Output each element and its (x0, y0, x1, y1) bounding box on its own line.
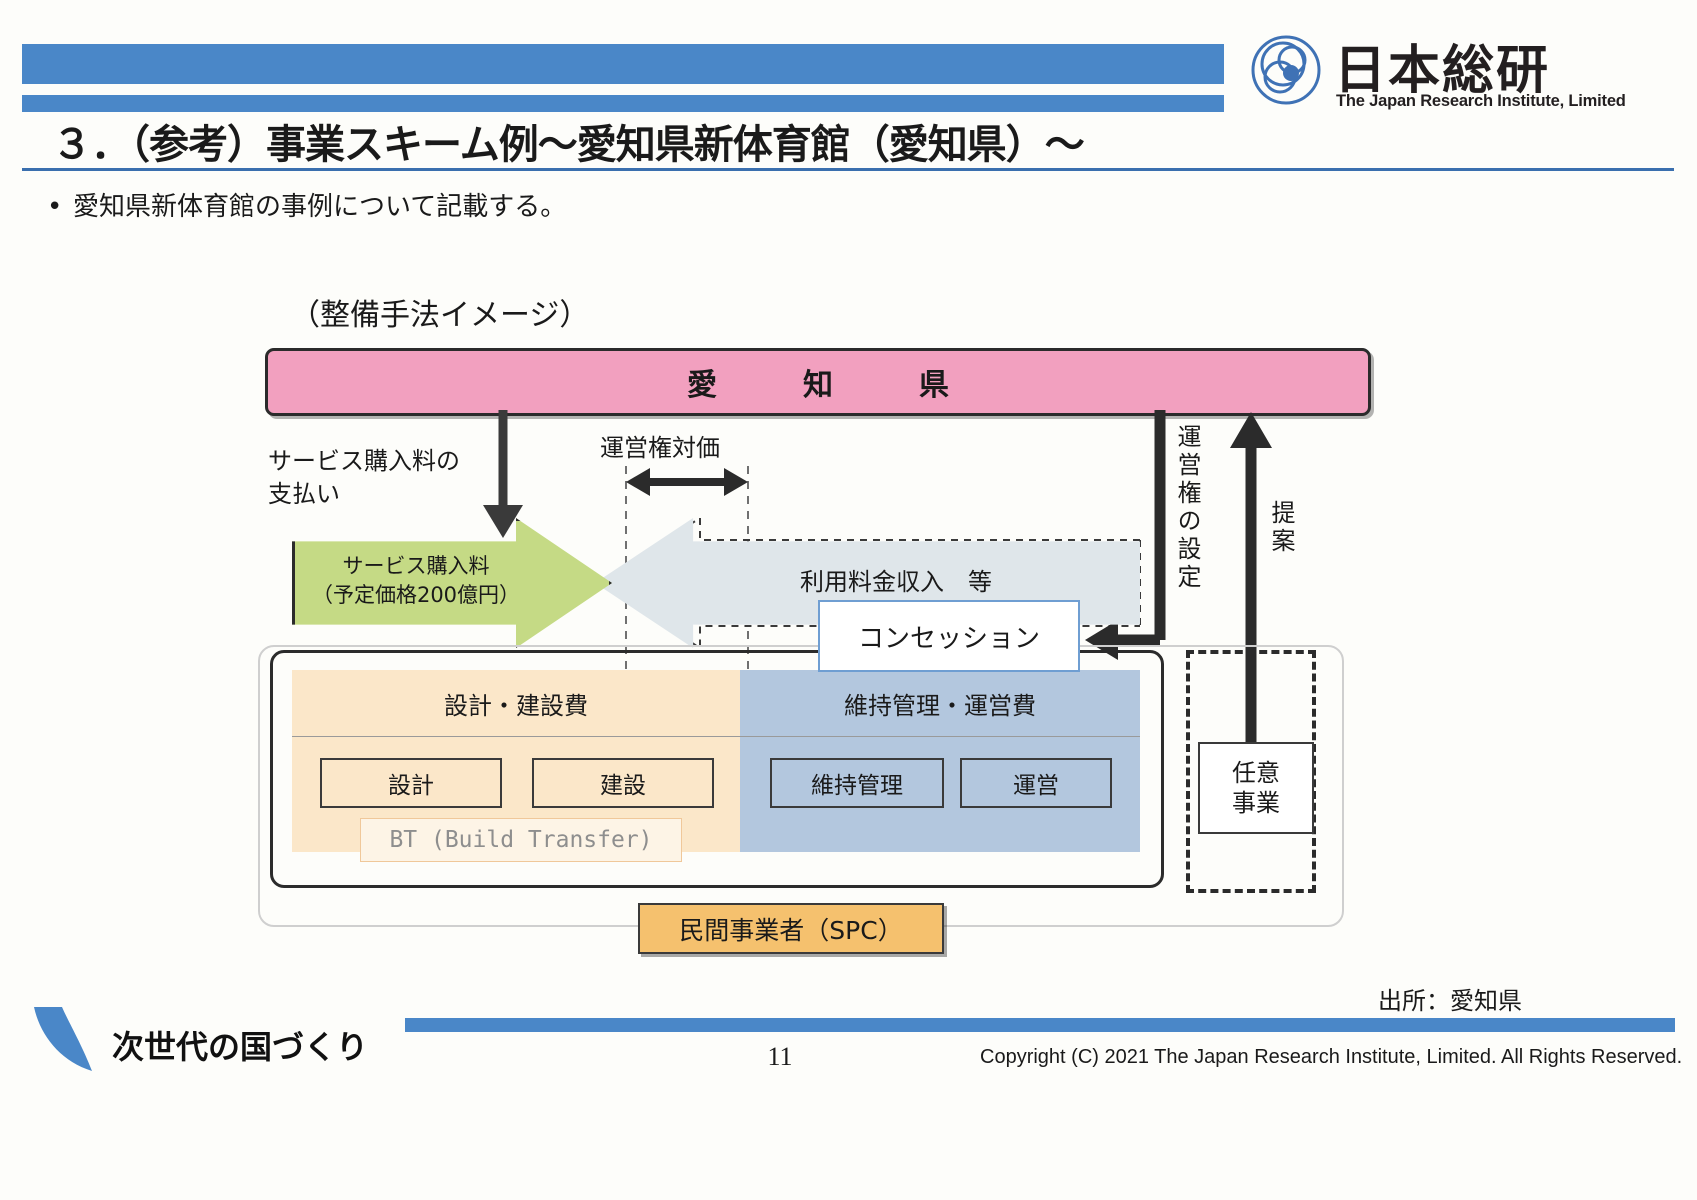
prefecture-bar: 愛 知 県 (265, 348, 1371, 416)
service-purchase-arrow: サービス購入料 （予定価格200億円） (292, 518, 612, 648)
task-box-maintenance: 維持管理 (770, 758, 944, 808)
private-operator-spc-box: 民間事業者（SPC） (638, 903, 944, 954)
bt-build-transfer-label: BT (Build Transfer) (360, 818, 682, 862)
usage-revenue-label: 利用料金収入 等 (800, 562, 992, 597)
optional-business-line2: 事業 (1232, 789, 1280, 817)
prefecture-bar-label: 愛 知 県 (268, 351, 1368, 413)
service-payment-line1: サービス購入料の (268, 447, 460, 475)
footer-swoosh-icon (30, 1005, 108, 1075)
footer-slogan: 次世代の国づくり (112, 1022, 368, 1068)
maintenance-ops-cost-header: 維持管理・運営費 (740, 670, 1140, 737)
design-build-cost-header: 設計・建設費 (292, 670, 740, 737)
slide-page: 日本総研 The Japan Research Institute, Limit… (0, 0, 1697, 1200)
proposal-label: 提案 (1266, 500, 1296, 556)
task-box-build: 建設 (532, 758, 714, 808)
service-purchase-line2: （予定価格200億円） (312, 583, 520, 607)
service-purchase-line1: サービス購入料 (343, 554, 490, 578)
page-number: 11 (750, 1042, 810, 1072)
operation-right-price-label: 運営権対価 (600, 428, 720, 463)
copyright-text: Copyright (C) 2021 The Japan Research In… (980, 1046, 1682, 1069)
operation-right-setting-label: 運営権の設定 (1172, 424, 1202, 592)
optional-business-line1: 任意 (1232, 759, 1280, 787)
concession-box: コンセッション (818, 600, 1080, 672)
service-purchase-arrow-label: サービス購入料 （予定価格200億円） (306, 552, 526, 610)
diagram-caption: （整備手法イメージ） (290, 290, 589, 334)
task-box-design: 設計 (320, 758, 502, 808)
footer-bar (405, 1018, 1675, 1032)
source-note: 出所：愛知県 (1378, 981, 1522, 1016)
service-payment-label: サービス購入料の 支払い (268, 445, 460, 511)
task-box-operation: 運営 (960, 758, 1112, 808)
optional-business-box: 任意 事業 (1198, 742, 1314, 834)
service-payment-line2: 支払い (268, 480, 340, 508)
